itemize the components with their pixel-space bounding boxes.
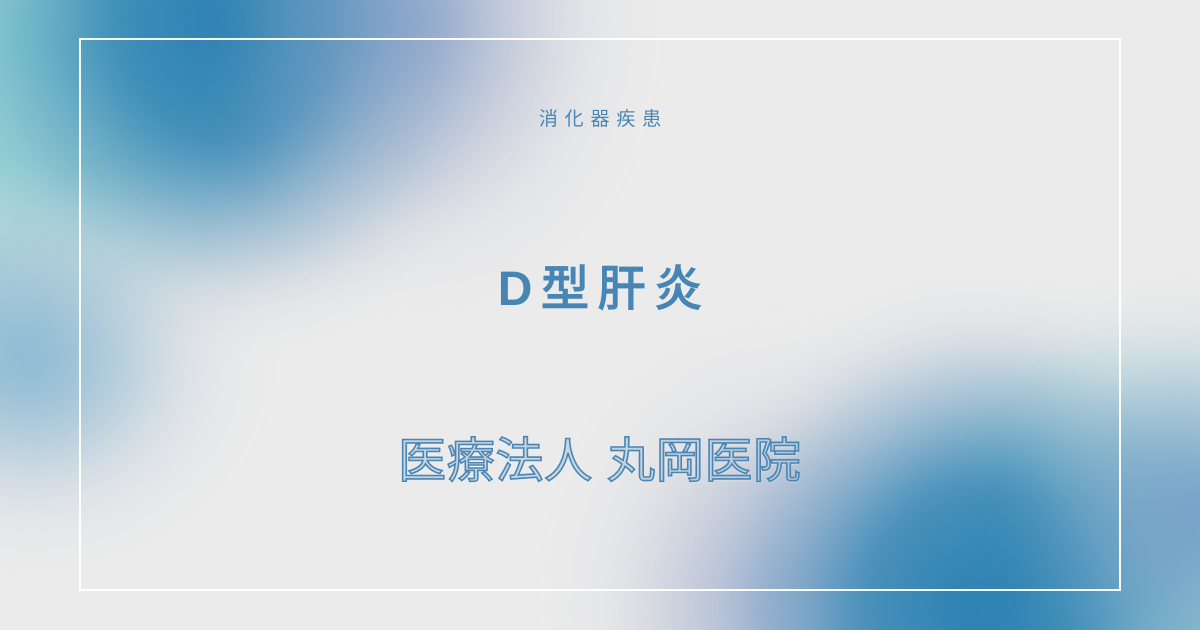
card-content: 消化器疾患 D型肝炎 医療法人 丸岡医院 [0, 0, 1200, 630]
title-card: 消化器疾患 D型肝炎 医療法人 丸岡医院 [0, 0, 1200, 630]
category-label: 消化器疾患 [0, 108, 1200, 133]
page-title: D型肝炎 [0, 260, 1200, 320]
clinic-name: 医療法人 丸岡医院 [0, 432, 1200, 492]
